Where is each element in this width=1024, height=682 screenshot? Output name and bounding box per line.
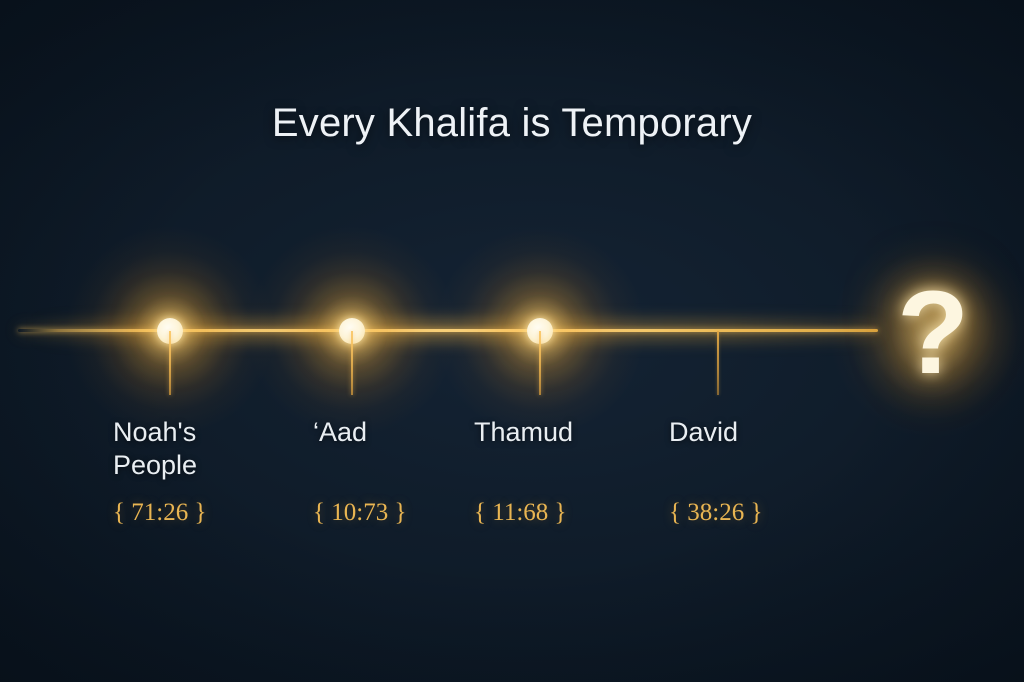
timeline-label-1: Noah's People { 71:26 } — [113, 416, 303, 528]
node-label-name: David — [669, 416, 859, 449]
node-label-reference: { 38:26 } — [669, 498, 859, 528]
timeline-label-3: Thamud { 11:68 } — [474, 416, 664, 528]
node-label-name: Noah's People — [113, 416, 303, 482]
timeline-graphic: Every Khalifa is Temporary — [0, 0, 1024, 682]
timeline-label-4: David { 38:26 } — [669, 416, 859, 528]
node-label-reference: { 71:26 } — [113, 498, 303, 528]
node-stem — [169, 331, 171, 395]
node-stem — [717, 331, 719, 395]
timeline-axis-line — [18, 329, 878, 332]
question-mark-icon: ? — [838, 238, 1024, 428]
timeline-terminus: ? — [838, 238, 1024, 428]
node-stem — [539, 331, 541, 395]
node-label-name: Thamud — [474, 416, 664, 449]
timeline-axis-group: ? — [0, 0, 1024, 682]
node-label-reference: { 11:68 } — [474, 498, 664, 528]
node-stem — [351, 331, 353, 395]
